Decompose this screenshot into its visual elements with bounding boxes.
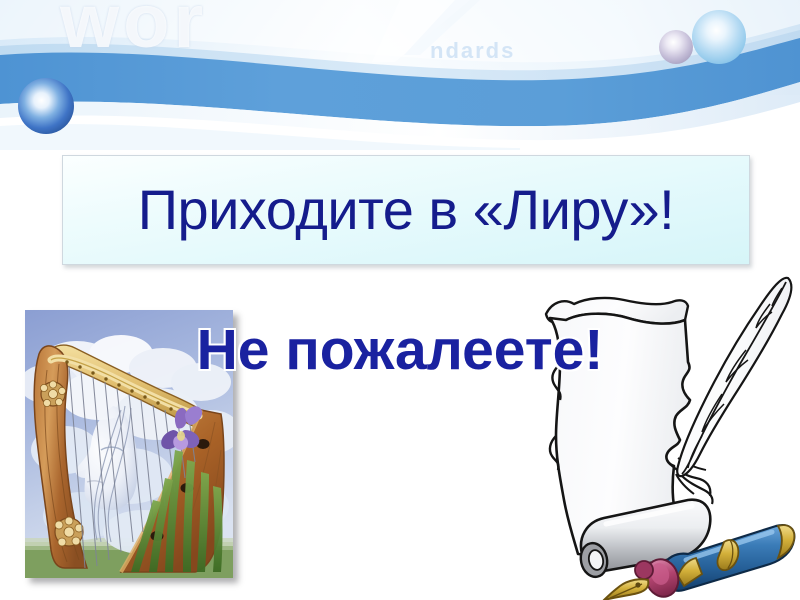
sphere-right-large-blue — [692, 10, 746, 64]
quill-feather — [676, 278, 791, 504]
presentation-slide: wor ndards Приходите в «Лиру»! — [0, 0, 800, 600]
parchment-scroll — [546, 298, 710, 579]
harp-rosette-lower — [55, 517, 83, 546]
title-text-box: Приходите в «Лиру»! — [62, 155, 750, 265]
banner-graphic — [0, 0, 800, 150]
decorative-wave-banner: wor ndards — [0, 0, 800, 150]
sphere-left-blue — [18, 78, 74, 134]
harp-graphic — [25, 310, 233, 578]
slide-title: Приходите в «Лиру»! — [138, 182, 674, 238]
sphere-right-small-lavender — [659, 30, 693, 64]
scroll-and-quill-illustration — [520, 268, 800, 600]
scroll-quill-graphic — [520, 268, 800, 600]
harp-illustration — [25, 310, 233, 578]
